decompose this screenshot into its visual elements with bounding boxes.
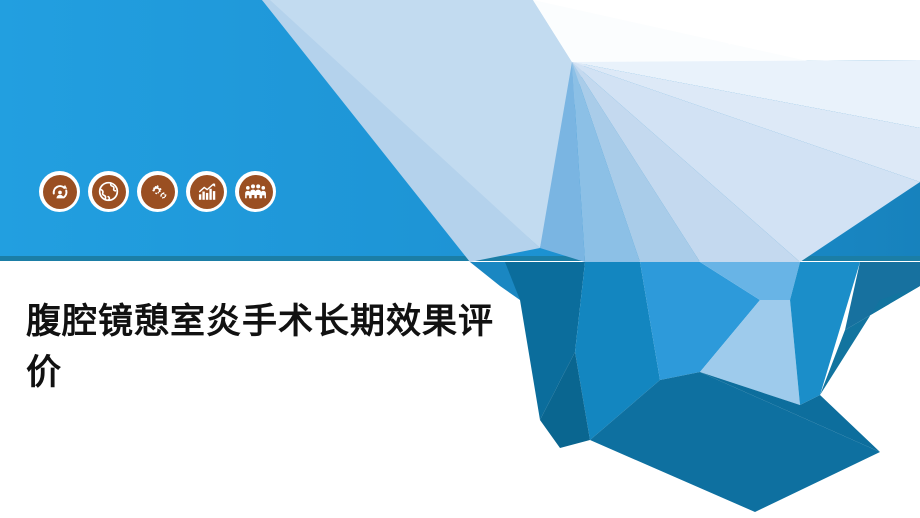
globe-icon-disc	[92, 175, 126, 209]
icon-row	[39, 171, 276, 212]
recycle-person-icon-disc	[43, 175, 77, 209]
globe-icon[interactable]	[88, 171, 129, 212]
people-group-icon[interactable]	[235, 171, 276, 212]
slide-tagline: 数智创新 变革未来	[727, 27, 902, 47]
recycle-person-icon[interactable]	[39, 171, 80, 212]
gears-icon-disc	[141, 175, 175, 209]
gears-icon[interactable]	[137, 171, 178, 212]
presentation-slide: 数智创新 变革未来	[0, 0, 920, 518]
people-group-icon-disc	[239, 175, 273, 209]
bar-chart-growth-icon[interactable]	[186, 171, 227, 212]
page-title: 腹腔镜憩室炎手术长期效果评价	[26, 297, 526, 399]
background-polygon-artwork	[0, 0, 920, 518]
poly-bottom-right-white	[860, 452, 920, 518]
bar-chart-growth-icon-disc	[190, 175, 224, 209]
